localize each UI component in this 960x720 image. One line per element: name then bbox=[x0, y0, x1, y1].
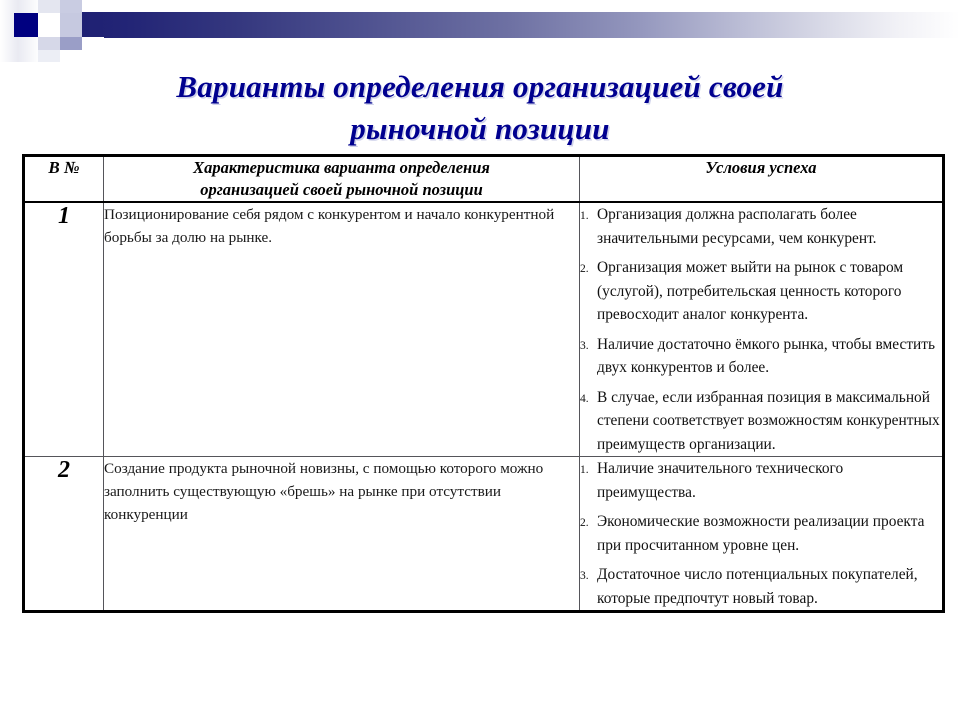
banner-square-g bbox=[38, 50, 60, 62]
column-header-description-line-2: организацией своей рыночной позиции bbox=[116, 179, 567, 201]
banner-square-a bbox=[38, 0, 60, 13]
row-conditions: 1. Наличие значительного технического пр… bbox=[580, 457, 944, 612]
conditions-list: 1. Наличие значительного технического пр… bbox=[580, 457, 942, 610]
list-item-text: Организация может выйти на рынок с товар… bbox=[597, 259, 903, 323]
list-item: 3. Наличие достаточно ёмкого рынка, чтоб… bbox=[580, 333, 942, 380]
decorative-banner bbox=[0, 0, 960, 62]
list-marker: 3. bbox=[580, 565, 589, 589]
column-header-conditions: Условия успеха bbox=[580, 156, 944, 203]
table-header-row: В № Характеристика варианта определения … bbox=[24, 156, 944, 203]
column-header-description: Характеристика варианта определения орга… bbox=[104, 156, 580, 203]
table-body: 1 Позиционирование себя рядом с конкурен… bbox=[24, 202, 944, 612]
list-item: 3. Достаточное число потенциальных покуп… bbox=[580, 563, 942, 610]
list-marker: 1. bbox=[580, 459, 589, 483]
row-number: 1 bbox=[24, 202, 104, 457]
list-item-text: Достаточное число потенциальных покупате… bbox=[597, 566, 918, 607]
list-marker: 1. bbox=[580, 205, 589, 229]
column-header-number: В № bbox=[24, 156, 104, 203]
slide-title-line-1: Варианты определения организацией своей bbox=[60, 66, 900, 108]
banner-accent-square bbox=[14, 13, 38, 37]
list-item-text: Наличие значительного технического преим… bbox=[597, 460, 843, 501]
list-marker: 2. bbox=[580, 258, 589, 282]
table-row: 2 Создание продукта рыночной новизны, с … bbox=[24, 457, 944, 612]
list-item: 1. Организация должна располагать более … bbox=[580, 203, 942, 250]
list-item-text: Организация должна располагать более зна… bbox=[597, 206, 877, 247]
list-item: 2. Экономические возможности реализации … bbox=[580, 510, 942, 557]
table-row: 1 Позиционирование себя рядом с конкурен… bbox=[24, 202, 944, 457]
banner-square-c bbox=[38, 13, 60, 37]
list-item-text: Наличие достаточно ёмкого рынка, чтобы в… bbox=[597, 336, 935, 377]
list-item: 4. В случае, если избранная позиция в ма… bbox=[580, 386, 942, 457]
row-description: Создание продукта рыночной новизны, с по… bbox=[104, 457, 580, 612]
market-position-table: В № Характеристика варианта определения … bbox=[22, 154, 945, 613]
row-description: Позиционирование себя рядом с конкуренто… bbox=[104, 202, 580, 457]
banner-square-b bbox=[60, 0, 82, 13]
row-conditions: 1. Организация должна располагать более … bbox=[580, 202, 944, 457]
banner-gradient-bar bbox=[60, 12, 960, 38]
banner-square-h bbox=[60, 50, 82, 62]
column-header-description-line-1: Характеристика варианта определения bbox=[116, 157, 567, 179]
table-container: В № Характеристика варианта определения … bbox=[22, 154, 942, 613]
list-marker: 4. bbox=[580, 388, 589, 412]
banner-square-f bbox=[60, 37, 82, 50]
conditions-list: 1. Организация должна располагать более … bbox=[580, 203, 942, 456]
banner-square-i bbox=[82, 37, 104, 50]
banner-square-e bbox=[38, 37, 60, 50]
list-marker: 3. bbox=[580, 335, 589, 359]
list-item: 2. Организация может выйти на рынок с то… bbox=[580, 256, 942, 327]
banner-square-d bbox=[60, 13, 82, 37]
table-header: В № Характеристика варианта определения … bbox=[24, 156, 944, 203]
row-number: 2 bbox=[24, 457, 104, 612]
list-marker: 2. bbox=[580, 512, 589, 536]
slide-title-line-2: рыночной позиции bbox=[60, 108, 900, 150]
list-item-text: Экономические возможности реализации про… bbox=[597, 513, 924, 554]
slide-title: Варианты определения организацией своей … bbox=[60, 66, 900, 150]
list-item: 1. Наличие значительного технического пр… bbox=[580, 457, 942, 504]
list-item-text: В случае, если избранная позиция в макси… bbox=[597, 389, 940, 453]
